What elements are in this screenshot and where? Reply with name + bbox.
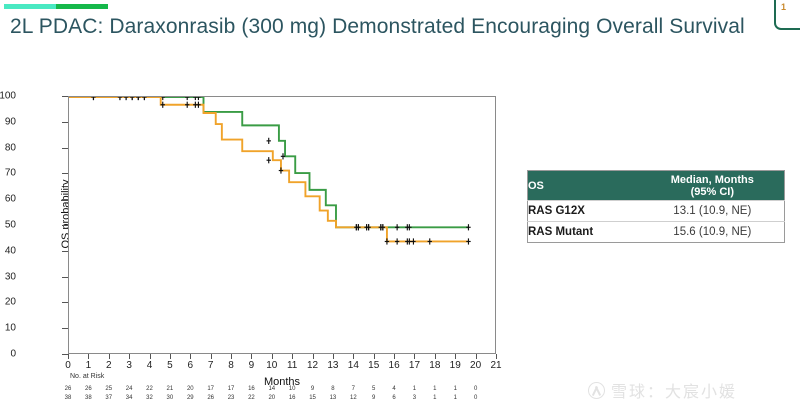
y-tick-label: 70 (0, 168, 16, 179)
censor-mark (411, 238, 415, 244)
x-tick-label: 8 (228, 360, 234, 371)
risk-value: 26 (85, 386, 92, 392)
risk-value: 30 (167, 395, 174, 401)
plot-frame (68, 96, 496, 354)
table-row: RAS G12X 13.1 (10.9, NE) (528, 201, 785, 222)
x-tick-mark (150, 354, 151, 359)
x-tick-label: 18 (429, 360, 440, 371)
x-tick-label: 5 (167, 360, 173, 371)
table-row: RAS Mutant 15.6 (10.9, NE) (528, 222, 785, 243)
censor-mark (142, 97, 146, 100)
risk-value: 22 (248, 395, 255, 401)
risk-value: 1 (413, 386, 416, 392)
censor-mark (267, 138, 271, 144)
summary-row-median: 13.1 (10.9, NE) (641, 201, 785, 222)
km-curve (69, 97, 468, 241)
x-tick-mark (313, 354, 314, 359)
risk-value: 23 (228, 395, 235, 401)
censor-mark (91, 97, 95, 100)
km-curves-svg (69, 97, 497, 355)
x-tick-mark (353, 354, 354, 359)
risk-value: 38 (85, 395, 92, 401)
risk-value: 0 (474, 395, 477, 401)
x-tick-label: 9 (249, 360, 255, 371)
xueqiu-logo-icon (588, 382, 605, 399)
censor-mark (395, 238, 399, 244)
risk-value: 16 (289, 395, 296, 401)
risk-value: 17 (207, 386, 214, 392)
risk-value: 32 (146, 395, 153, 401)
y-tick-mark (62, 251, 68, 252)
risk-value: 38 (65, 395, 72, 401)
x-tick-label: 10 (266, 360, 277, 371)
km-chart: OS probability Months No. at Risk 010203… (0, 88, 520, 388)
corner-badge-label: 1 (781, 2, 786, 12)
x-tick-mark (129, 354, 130, 359)
risk-value: 26 (207, 395, 214, 401)
risk-value: 26 (65, 386, 72, 392)
watermark-text: 雪球：大宸小媛 (611, 378, 737, 402)
y-tick-mark (62, 328, 68, 329)
x-tick-label: 13 (327, 360, 338, 371)
x-tick-label: 12 (307, 360, 318, 371)
summary-body: RAS G12X 13.1 (10.9, NE) RAS Mutant 15.6… (528, 201, 785, 243)
x-tick-mark (374, 354, 375, 359)
x-tick-mark (292, 354, 293, 359)
risk-value: 20 (268, 395, 275, 401)
risk-value: 15 (309, 395, 316, 401)
risk-value: 4 (392, 386, 395, 392)
y-tick-label: 100 (0, 91, 16, 102)
page-title: 2L PDAC: Daraxonrasib (300 mg) Demonstra… (10, 12, 770, 41)
x-tick-label: 1 (86, 360, 92, 371)
y-tick-label: 10 (0, 323, 16, 334)
censor-mark (196, 97, 200, 100)
censor-mark (136, 97, 140, 100)
accent-bar-right (56, 4, 108, 9)
risk-value: 12 (350, 395, 357, 401)
x-tick-mark (394, 354, 395, 359)
x-tick-mark (272, 354, 273, 359)
x-tick-mark (231, 354, 232, 359)
accent-bar-left (4, 4, 56, 9)
x-tick-mark (190, 354, 191, 359)
risk-value: 14 (268, 386, 275, 392)
x-tick-label: 17 (409, 360, 420, 371)
x-tick-mark (211, 354, 212, 359)
x-tick-mark (455, 354, 456, 359)
summary-header-median: Median, Months (95% CI) (641, 171, 785, 201)
censor-mark (428, 238, 432, 244)
x-tick-mark (88, 354, 89, 359)
y-tick-mark (62, 277, 68, 278)
x-tick-mark (109, 354, 110, 359)
summary-header-row: OS Median, Months (95% CI) (528, 171, 785, 201)
y-tick-label: 80 (0, 142, 16, 153)
x-tick-label: 3 (126, 360, 132, 371)
x-tick-label: 6 (188, 360, 194, 371)
risk-value: 24 (126, 386, 133, 392)
risk-value: 13 (330, 395, 337, 401)
risk-value: 7 (352, 386, 355, 392)
summary-header-median-line1: Median, Months (641, 174, 784, 186)
censor-mark (124, 97, 128, 100)
x-tick-label: 7 (208, 360, 214, 371)
risk-value: 5 (372, 386, 375, 392)
os-summary-table: OS Median, Months (95% CI) RAS G12X 13.1… (527, 170, 785, 243)
risk-value: 3 (413, 395, 416, 401)
no-at-risk-caption: No. at Risk (70, 373, 104, 380)
censor-mark (466, 224, 470, 230)
risk-value: 9 (311, 386, 314, 392)
y-tick-mark (62, 148, 68, 149)
censor-mark (267, 157, 271, 163)
y-tick-label: 0 (0, 349, 16, 360)
censor-mark (196, 102, 200, 108)
x-tick-label: 0 (65, 360, 71, 371)
slide-canvas: 1 2L PDAC: Daraxonrasib (300 mg) Demonst… (0, 0, 800, 415)
y-tick-mark (62, 173, 68, 174)
risk-value: 16 (248, 386, 255, 392)
censor-mark (466, 238, 470, 244)
risk-value: 10 (289, 386, 296, 392)
x-tick-label: 11 (287, 360, 297, 371)
x-tick-mark (435, 354, 436, 359)
x-tick-label: 20 (470, 360, 481, 371)
y-tick-mark (62, 302, 68, 303)
risk-value: 8 (331, 386, 334, 392)
x-tick-mark (476, 354, 477, 359)
y-tick-mark (62, 199, 68, 200)
summary-row-median: 15.6 (10.9, NE) (641, 222, 785, 243)
risk-value: 1 (433, 386, 436, 392)
risk-value: 20 (187, 386, 194, 392)
summary-header-median-line2: (95% CI) (641, 186, 784, 198)
x-tick-mark (251, 354, 252, 359)
censor-mark (395, 224, 399, 230)
y-tick-label: 60 (0, 194, 16, 205)
x-tick-mark (333, 354, 334, 359)
x-tick-label: 19 (450, 360, 461, 371)
x-tick-label: 15 (368, 360, 379, 371)
x-tick-mark (170, 354, 171, 359)
risk-value: 1 (433, 395, 436, 401)
censor-mark (118, 97, 122, 100)
y-tick-label: 50 (0, 220, 16, 231)
corner-badge: 1 (774, 0, 800, 30)
x-tick-label: 2 (106, 360, 112, 371)
y-tick-mark (62, 122, 68, 123)
censor-mark (130, 97, 134, 100)
x-tick-label: 14 (348, 360, 359, 371)
risk-value: 1 (454, 386, 457, 392)
censor-mark (185, 97, 189, 100)
censor-mark (385, 238, 389, 244)
risk-value: 34 (126, 395, 133, 401)
risk-value: 37 (105, 395, 112, 401)
y-tick-mark (62, 96, 68, 97)
summary-row-label: RAS G12X (528, 201, 641, 222)
risk-value: 21 (167, 386, 174, 392)
y-tick-label: 20 (0, 297, 16, 308)
risk-value: 6 (392, 395, 395, 401)
risk-value: 17 (228, 386, 235, 392)
risk-value: 0 (474, 386, 477, 392)
summary-header-os: OS (528, 171, 641, 201)
x-tick-mark (496, 354, 497, 359)
risk-value: 29 (187, 395, 194, 401)
summary-row-label: RAS Mutant (528, 222, 641, 243)
x-tick-mark (414, 354, 415, 359)
risk-value: 22 (146, 386, 153, 392)
y-tick-label: 90 (0, 116, 16, 127)
x-tick-label: 4 (147, 360, 153, 371)
x-tick-mark (68, 354, 69, 359)
risk-value: 1 (454, 395, 457, 401)
y-tick-mark (62, 225, 68, 226)
x-tick-label: 21 (490, 360, 501, 371)
watermark: 雪球：大宸小媛 (588, 378, 737, 402)
risk-value: 25 (105, 386, 112, 392)
x-tick-label: 16 (389, 360, 400, 371)
censor-mark (279, 167, 283, 173)
censor-mark (185, 102, 189, 108)
y-tick-label: 30 (0, 271, 16, 282)
risk-table: RAS G12 mutant 2626252422212017171614109… (0, 386, 520, 412)
risk-value: 9 (372, 395, 375, 401)
y-tick-label: 40 (0, 245, 16, 256)
